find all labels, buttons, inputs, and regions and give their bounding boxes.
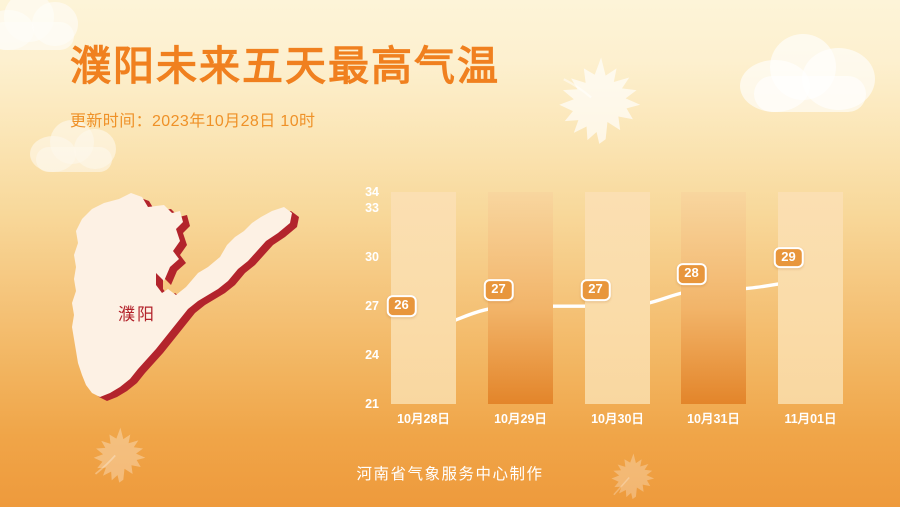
data-point-label: 28 [676, 263, 706, 285]
x-axis-tick: 10月28日 [379, 408, 469, 427]
update-time-label: 更新时间：2023年10月28日 10时 [70, 107, 315, 131]
cloud-icon-top-left [0, 0, 78, 50]
data-point-label: 27 [580, 279, 610, 301]
y-axis-tick: 27 [345, 299, 379, 313]
plot-area: 10月28日10月29日10月30日10月31日11月01日2627272829 [383, 192, 845, 404]
y-axis-tick: 33 [345, 201, 379, 215]
map-region-label: 濮阳 [118, 300, 156, 325]
cloud-icon-top-right [740, 34, 875, 112]
data-point-label: 29 [773, 247, 803, 269]
temperature-chart: 343330272421 10月28日10月29日10月30日10月31日11月… [345, 188, 855, 418]
x-axis-tick: 10月29日 [476, 408, 566, 427]
data-point-label: 27 [483, 279, 513, 301]
data-point-label: 26 [386, 296, 416, 318]
chart-bar [681, 192, 746, 404]
x-axis-tick: 10月31日 [669, 408, 759, 427]
puyang-map [52, 185, 332, 425]
y-axis: 343330272421 [345, 188, 379, 404]
y-axis-tick: 21 [345, 397, 379, 411]
footer-credit: 河南省气象服务中心制作 [0, 462, 900, 484]
x-axis-tick: 11月01日 [766, 408, 856, 427]
map-svg [52, 185, 332, 425]
page-title: 濮阳未来五天最高气温 [70, 44, 500, 89]
maple-leaf-icon-top [556, 52, 648, 152]
y-axis-tick: 34 [345, 185, 379, 199]
x-axis-tick: 10月30日 [573, 408, 663, 427]
y-axis-tick: 30 [345, 250, 379, 264]
chart-bar [778, 192, 843, 404]
y-axis-tick: 24 [345, 348, 379, 362]
